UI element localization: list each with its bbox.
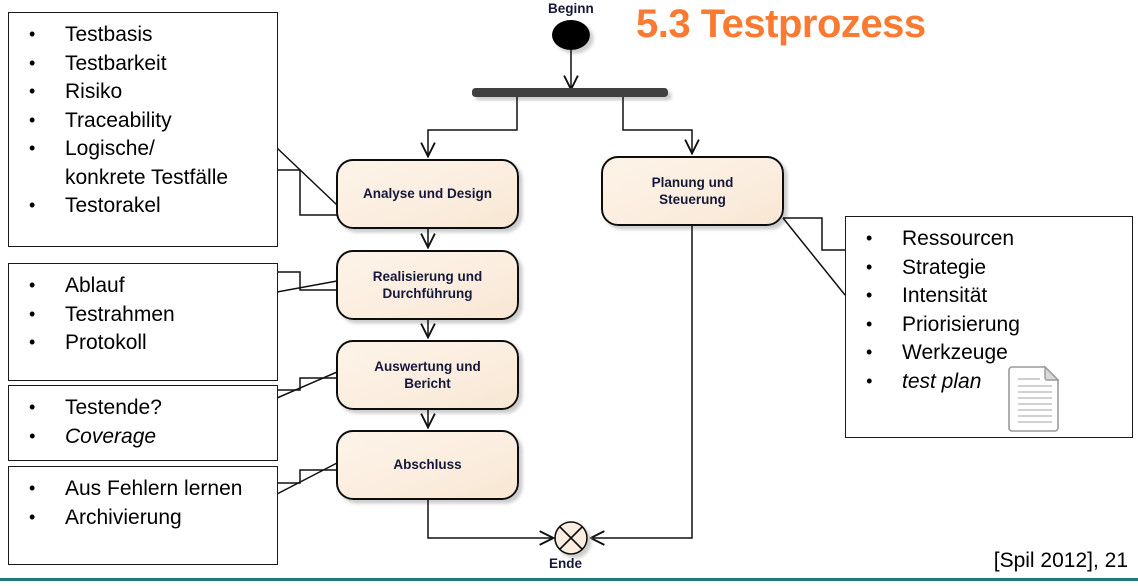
note-list-item: Testrahmen [21,301,273,330]
footer-rule [0,578,1138,581]
source-citation: [Spil 2012], 21 [994,549,1128,573]
note-list-item: Intensität [858,282,1128,311]
leader-note2-step [277,272,337,290]
note-list-item: Archivierung [21,504,273,533]
leader-note4-step [277,470,337,483]
activity-abschluss[interactable] [337,431,518,499]
activity-analyse-und-design[interactable] [337,160,518,228]
final-node [555,522,587,554]
flow-fork-to-planung [623,97,692,152]
note-analyse-design: TestbasisTestbarkeitRisikoTraceabilityLo… [8,12,278,247]
fork-bar [472,88,668,97]
note-list-item: Strategie [858,254,1128,283]
note-list-item: Priorisierung [858,311,1128,340]
final-node-label: Ende [549,556,582,571]
note-list-item: Ressourcen [858,225,1128,254]
note-auswertung-list: Testende?Coverage [21,394,273,451]
note-list-item: Testende? [21,394,273,423]
note-list-item: Aus Fehlern lernen [21,475,273,504]
leader-note-right-step [783,218,845,250]
note-list-item: Traceability [21,107,273,136]
note-list-item: Testbasis [21,21,273,50]
note-list-item: Risiko [21,78,273,107]
note-abschluss: Aus Fehlern lernenArchivierung [8,466,278,565]
leader-note3-diagonal [277,372,337,398]
note-list-item: test plan [858,368,1128,397]
note-planung-list: RessourcenStrategieIntensitätPriorisieru… [858,225,1128,396]
activity-realisierung-und-durchfuehrung[interactable] [337,251,518,319]
flow-abschluss-to-ende [428,499,552,538]
initial-node-label: Beginn [548,1,594,16]
note-list-item: konkrete Testfälle [21,164,273,193]
note-list-item: Ablauf [21,272,273,301]
activity-planung-und-steuerung[interactable] [602,157,783,225]
activity-auswertung-und-bericht[interactable] [337,341,518,409]
note-list-item: Testbarkeit [21,50,273,79]
note-planung: RessourcenStrategieIntensitätPriorisieru… [845,216,1133,438]
note-abschluss-list: Aus Fehlern lernenArchivierung [21,475,273,532]
note-auswertung: Testende?Coverage [8,385,278,461]
flow-fork-to-analyse [428,97,517,155]
leader-note-right-diagonal [783,218,845,295]
leader-note4-diagonal [277,463,337,494]
note-list-item: Logische/ [21,135,273,164]
note-list-item: Coverage [21,423,273,452]
leader-note3-step [277,378,337,390]
slide-canvas: 5.3 Testprozess [0,0,1138,586]
flow-planung-to-ende [592,225,692,538]
leader-note1-diagonal [277,148,337,205]
document-icon [1007,363,1061,433]
note-list-item: Testorakel [21,192,273,221]
note-realisierung: AblaufTestrahmenProtokoll [8,263,278,381]
note-list-item: Protokoll [21,329,273,358]
note-list-item: Werkzeuge [858,339,1128,368]
initial-node [552,20,590,50]
note-realisierung-list: AblaufTestrahmenProtokoll [21,272,273,358]
note-analyse-design-list: TestbasisTestbarkeitRisikoTraceabilityLo… [21,21,273,221]
